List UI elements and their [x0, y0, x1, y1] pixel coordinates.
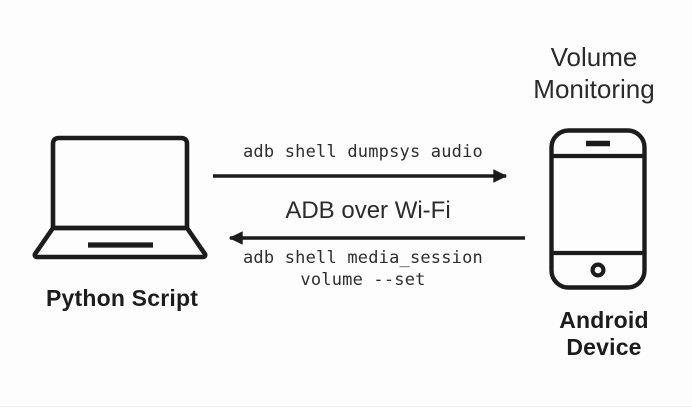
android-device-label: Android Device [518, 307, 690, 361]
inbound-command-label: adb shell media_session volume --set [188, 248, 538, 292]
python-script-label: Python Script [8, 285, 236, 312]
outbound-command-label: adb shell dumpsys audio [188, 142, 538, 164]
smartphone-icon [540, 118, 656, 305]
link-label: ADB over Wi-Fi [208, 196, 528, 225]
volume-monitoring-annotation: Volume Monitoring [496, 42, 692, 105]
diagram-canvas: Volume Monitoring [0, 0, 692, 407]
